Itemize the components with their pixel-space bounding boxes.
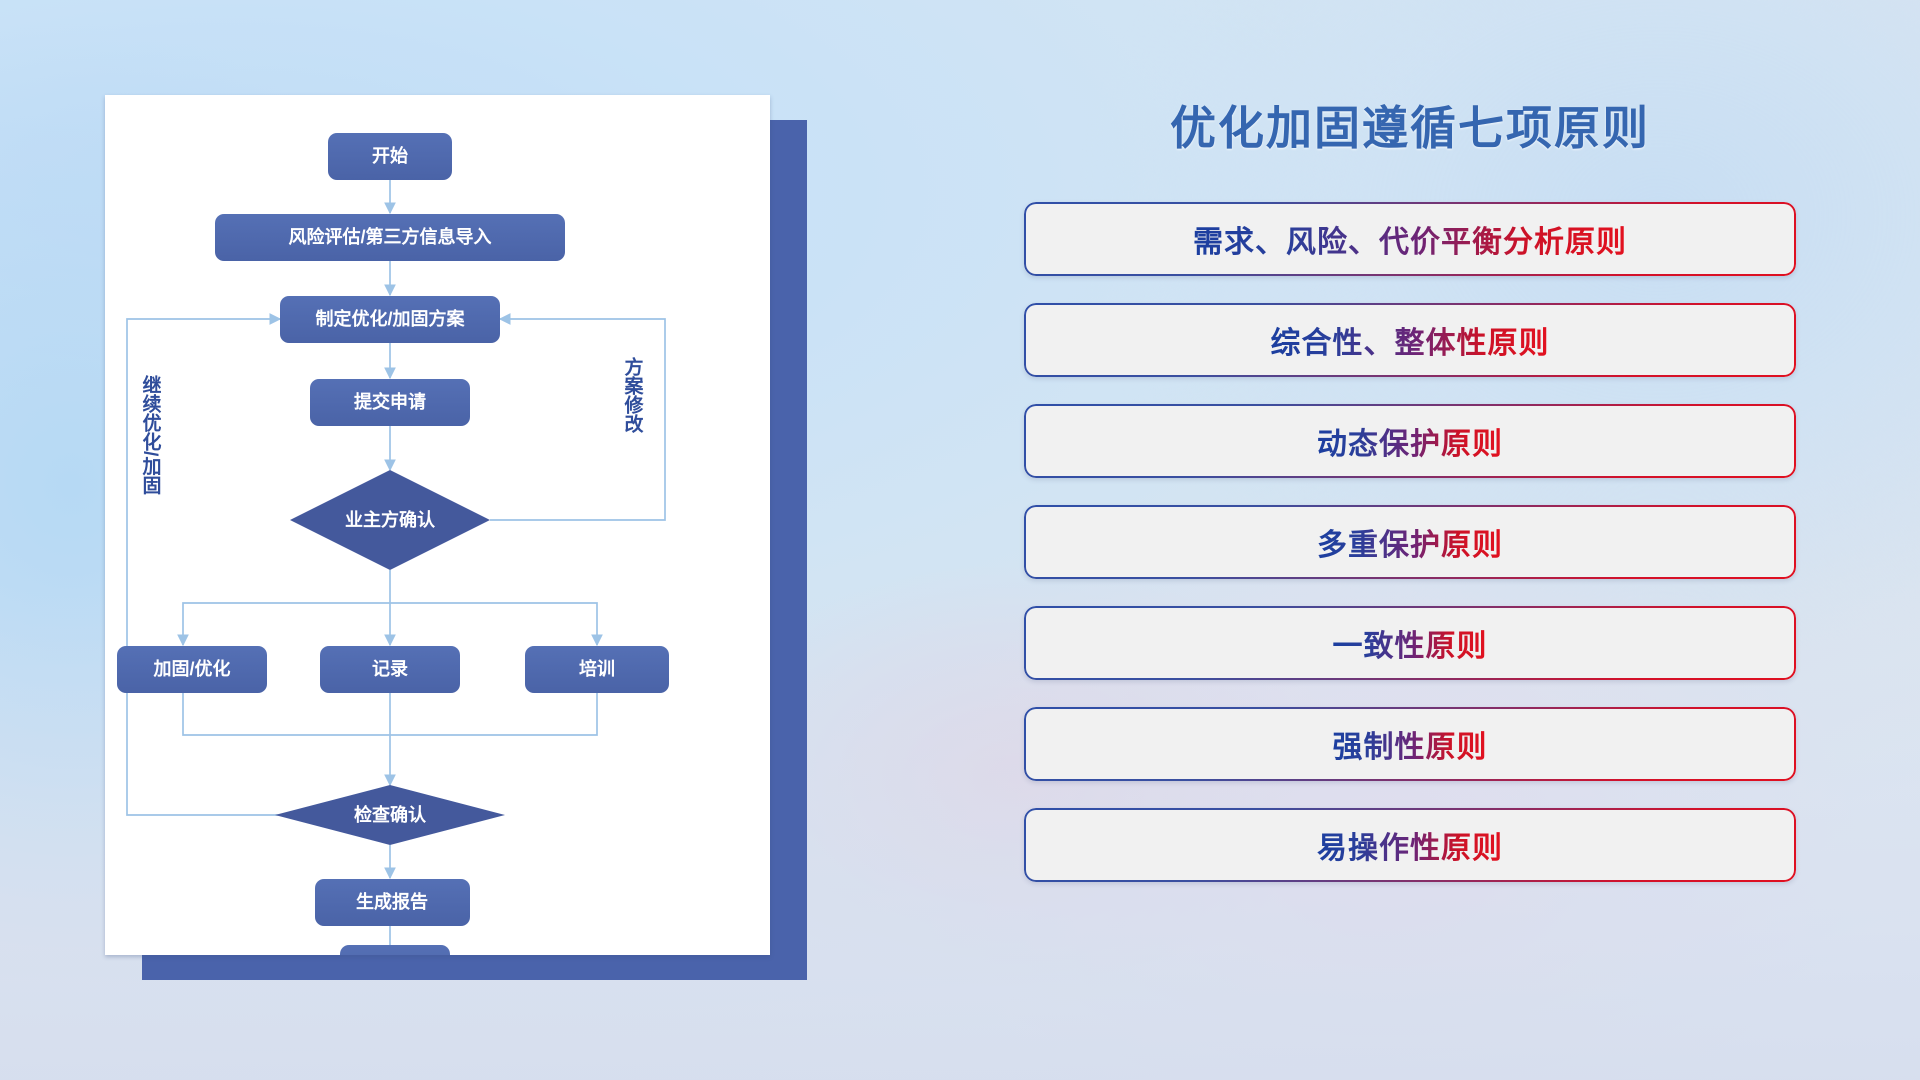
flow-node-owner-confirm-label: 业主方确认 <box>345 509 436 530</box>
flowchart-card: 开始 风险评估/第三方信息导入 制定优化/加固方案 提交申请 业主方确认 加固/… <box>105 95 770 955</box>
principle-item-5-label: 一致性原则 <box>1333 621 1488 665</box>
flow-node-assess[interactable]: 风险评估/第三方信息导入 <box>215 214 565 261</box>
principle-item-7[interactable]: 易操作性原则 <box>1024 808 1796 882</box>
flow-node-check[interactable]: 检查确认 <box>275 785 505 845</box>
principle-item-2[interactable]: 综合性、整体性原则 <box>1024 303 1796 377</box>
flow-node-record[interactable]: 记录 <box>320 646 460 693</box>
flow-node-train-label: 培训 <box>579 658 615 679</box>
principles-list: 需求、风险、代价平衡分析原则 综合性、整体性原则 动态保护原则 多重保护原则 一… <box>1000 202 1820 882</box>
flow-node-reinforce-label: 加固/优化 <box>152 658 230 679</box>
flow-node-submit-label: 提交申请 <box>354 391 426 412</box>
flow-node-plan[interactable]: 制定优化/加固方案 <box>280 296 500 343</box>
principle-item-3-label: 动态保护原则 <box>1317 419 1503 463</box>
principle-item-4-label: 多重保护原则 <box>1317 520 1503 564</box>
principle-item-1[interactable]: 需求、风险、代价平衡分析原则 <box>1024 202 1796 276</box>
principle-item-7-label: 易操作性原则 <box>1317 823 1503 867</box>
principle-item-3[interactable]: 动态保护原则 <box>1024 404 1796 478</box>
flow-node-reinforce[interactable]: 加固/优化 <box>117 646 267 693</box>
flow-edge-label-continue-optimize: 继续优化/加固 <box>140 374 163 495</box>
principles-panel: 优化加固遵循七项原则 需求、风险、代价平衡分析原则 综合性、整体性原则 动态保护… <box>1000 80 1820 1010</box>
principle-item-5[interactable]: 一致性原则 <box>1024 606 1796 680</box>
principle-item-6-label: 强制性原则 <box>1333 722 1488 766</box>
flow-node-start[interactable]: 开始 <box>328 133 452 180</box>
flow-node-assess-label: 风险评估/第三方信息导入 <box>289 226 492 247</box>
panel-title: 优化加固遵循七项原则 <box>1000 92 1820 158</box>
principle-item-6[interactable]: 强制性原则 <box>1024 707 1796 781</box>
flow-node-end[interactable]: 结束 <box>340 945 450 955</box>
flow-node-owner-confirm[interactable]: 业主方确认 <box>290 470 490 570</box>
flow-node-record-label: 记录 <box>372 659 408 679</box>
flow-node-check-label: 检查确认 <box>354 804 427 825</box>
flow-edge-label-plan-revision: 方案修改 <box>622 356 645 434</box>
flow-node-train[interactable]: 培训 <box>525 646 669 693</box>
principle-item-4[interactable]: 多重保护原则 <box>1024 505 1796 579</box>
flow-node-plan-label: 制定优化/加固方案 <box>315 308 465 329</box>
flowchart-diagram: 开始 风险评估/第三方信息导入 制定优化/加固方案 提交申请 业主方确认 加固/… <box>105 95 770 955</box>
flow-node-start-label: 开始 <box>372 145 408 166</box>
flow-node-submit[interactable]: 提交申请 <box>310 379 470 426</box>
principle-item-2-label: 综合性、整体性原则 <box>1271 318 1550 362</box>
flow-node-report-label: 生成报告 <box>356 891 428 912</box>
principle-item-1-label: 需求、风险、代价平衡分析原则 <box>1193 217 1627 261</box>
flow-node-report[interactable]: 生成报告 <box>315 879 470 926</box>
